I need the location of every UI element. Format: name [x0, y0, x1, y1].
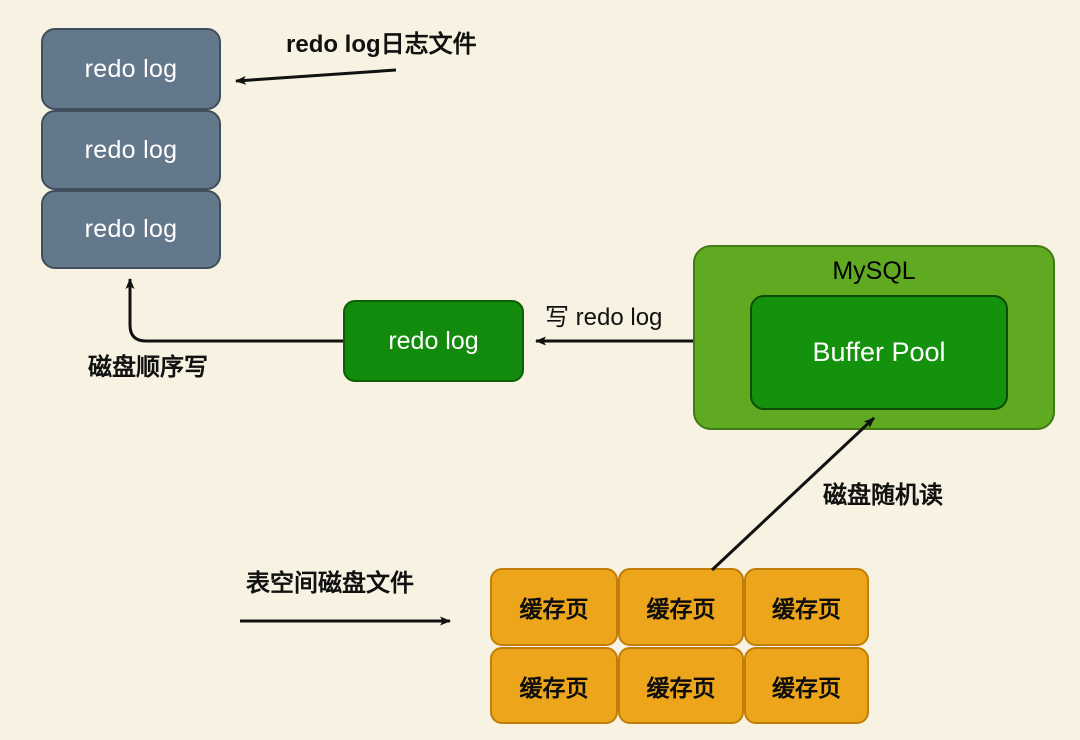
redo-log-file-label-3: redo log — [85, 215, 178, 244]
cache-page-cell: 缓存页 — [618, 647, 744, 724]
cache-page-cell: 缓存页 — [490, 568, 618, 646]
label-redo-log-files: redo log日志文件 — [286, 24, 477, 59]
mysql-title: MySQL — [832, 257, 915, 286]
cache-page-label: 缓存页 — [647, 590, 716, 624]
cache-page-label: 缓存页 — [520, 669, 589, 703]
cache-page-cell: 缓存页 — [744, 568, 869, 646]
redo-log-file-box-1: redo log — [41, 28, 221, 110]
arrow-redo-log-file — [236, 70, 396, 81]
arrow-sequential-disk-write — [130, 279, 343, 341]
redo-log-file-label-1: redo log — [85, 55, 178, 84]
cache-page-label: 缓存页 — [772, 669, 841, 703]
label-sequential-disk-write: 磁盘顺序写 — [88, 347, 208, 382]
redo-log-buffer-box: redo log — [343, 300, 524, 382]
cache-page-cell: 缓存页 — [744, 647, 869, 724]
redo-log-buffer-label: redo log — [388, 327, 478, 356]
redo-log-file-box-2: redo log — [41, 110, 221, 190]
label-random-disk-read: 磁盘随机读 — [823, 475, 943, 510]
cache-page-cell: 缓存页 — [618, 568, 744, 646]
buffer-pool-box: Buffer Pool — [750, 295, 1008, 410]
cache-page-label: 缓存页 — [520, 590, 589, 624]
redo-log-file-box-3: redo log — [41, 190, 221, 269]
redo-log-file-label-2: redo log — [85, 136, 178, 165]
diagram-canvas: redo log redo log redo log redo log MySQ… — [0, 0, 1080, 740]
cache-page-label: 缓存页 — [772, 590, 841, 624]
cache-page-label: 缓存页 — [647, 669, 716, 703]
cache-page-cell: 缓存页 — [490, 647, 618, 724]
label-write-redo-log: 写 redo log — [545, 297, 662, 332]
label-tablespace-file: 表空间磁盘文件 — [246, 563, 414, 598]
buffer-pool-label: Buffer Pool — [812, 337, 945, 368]
